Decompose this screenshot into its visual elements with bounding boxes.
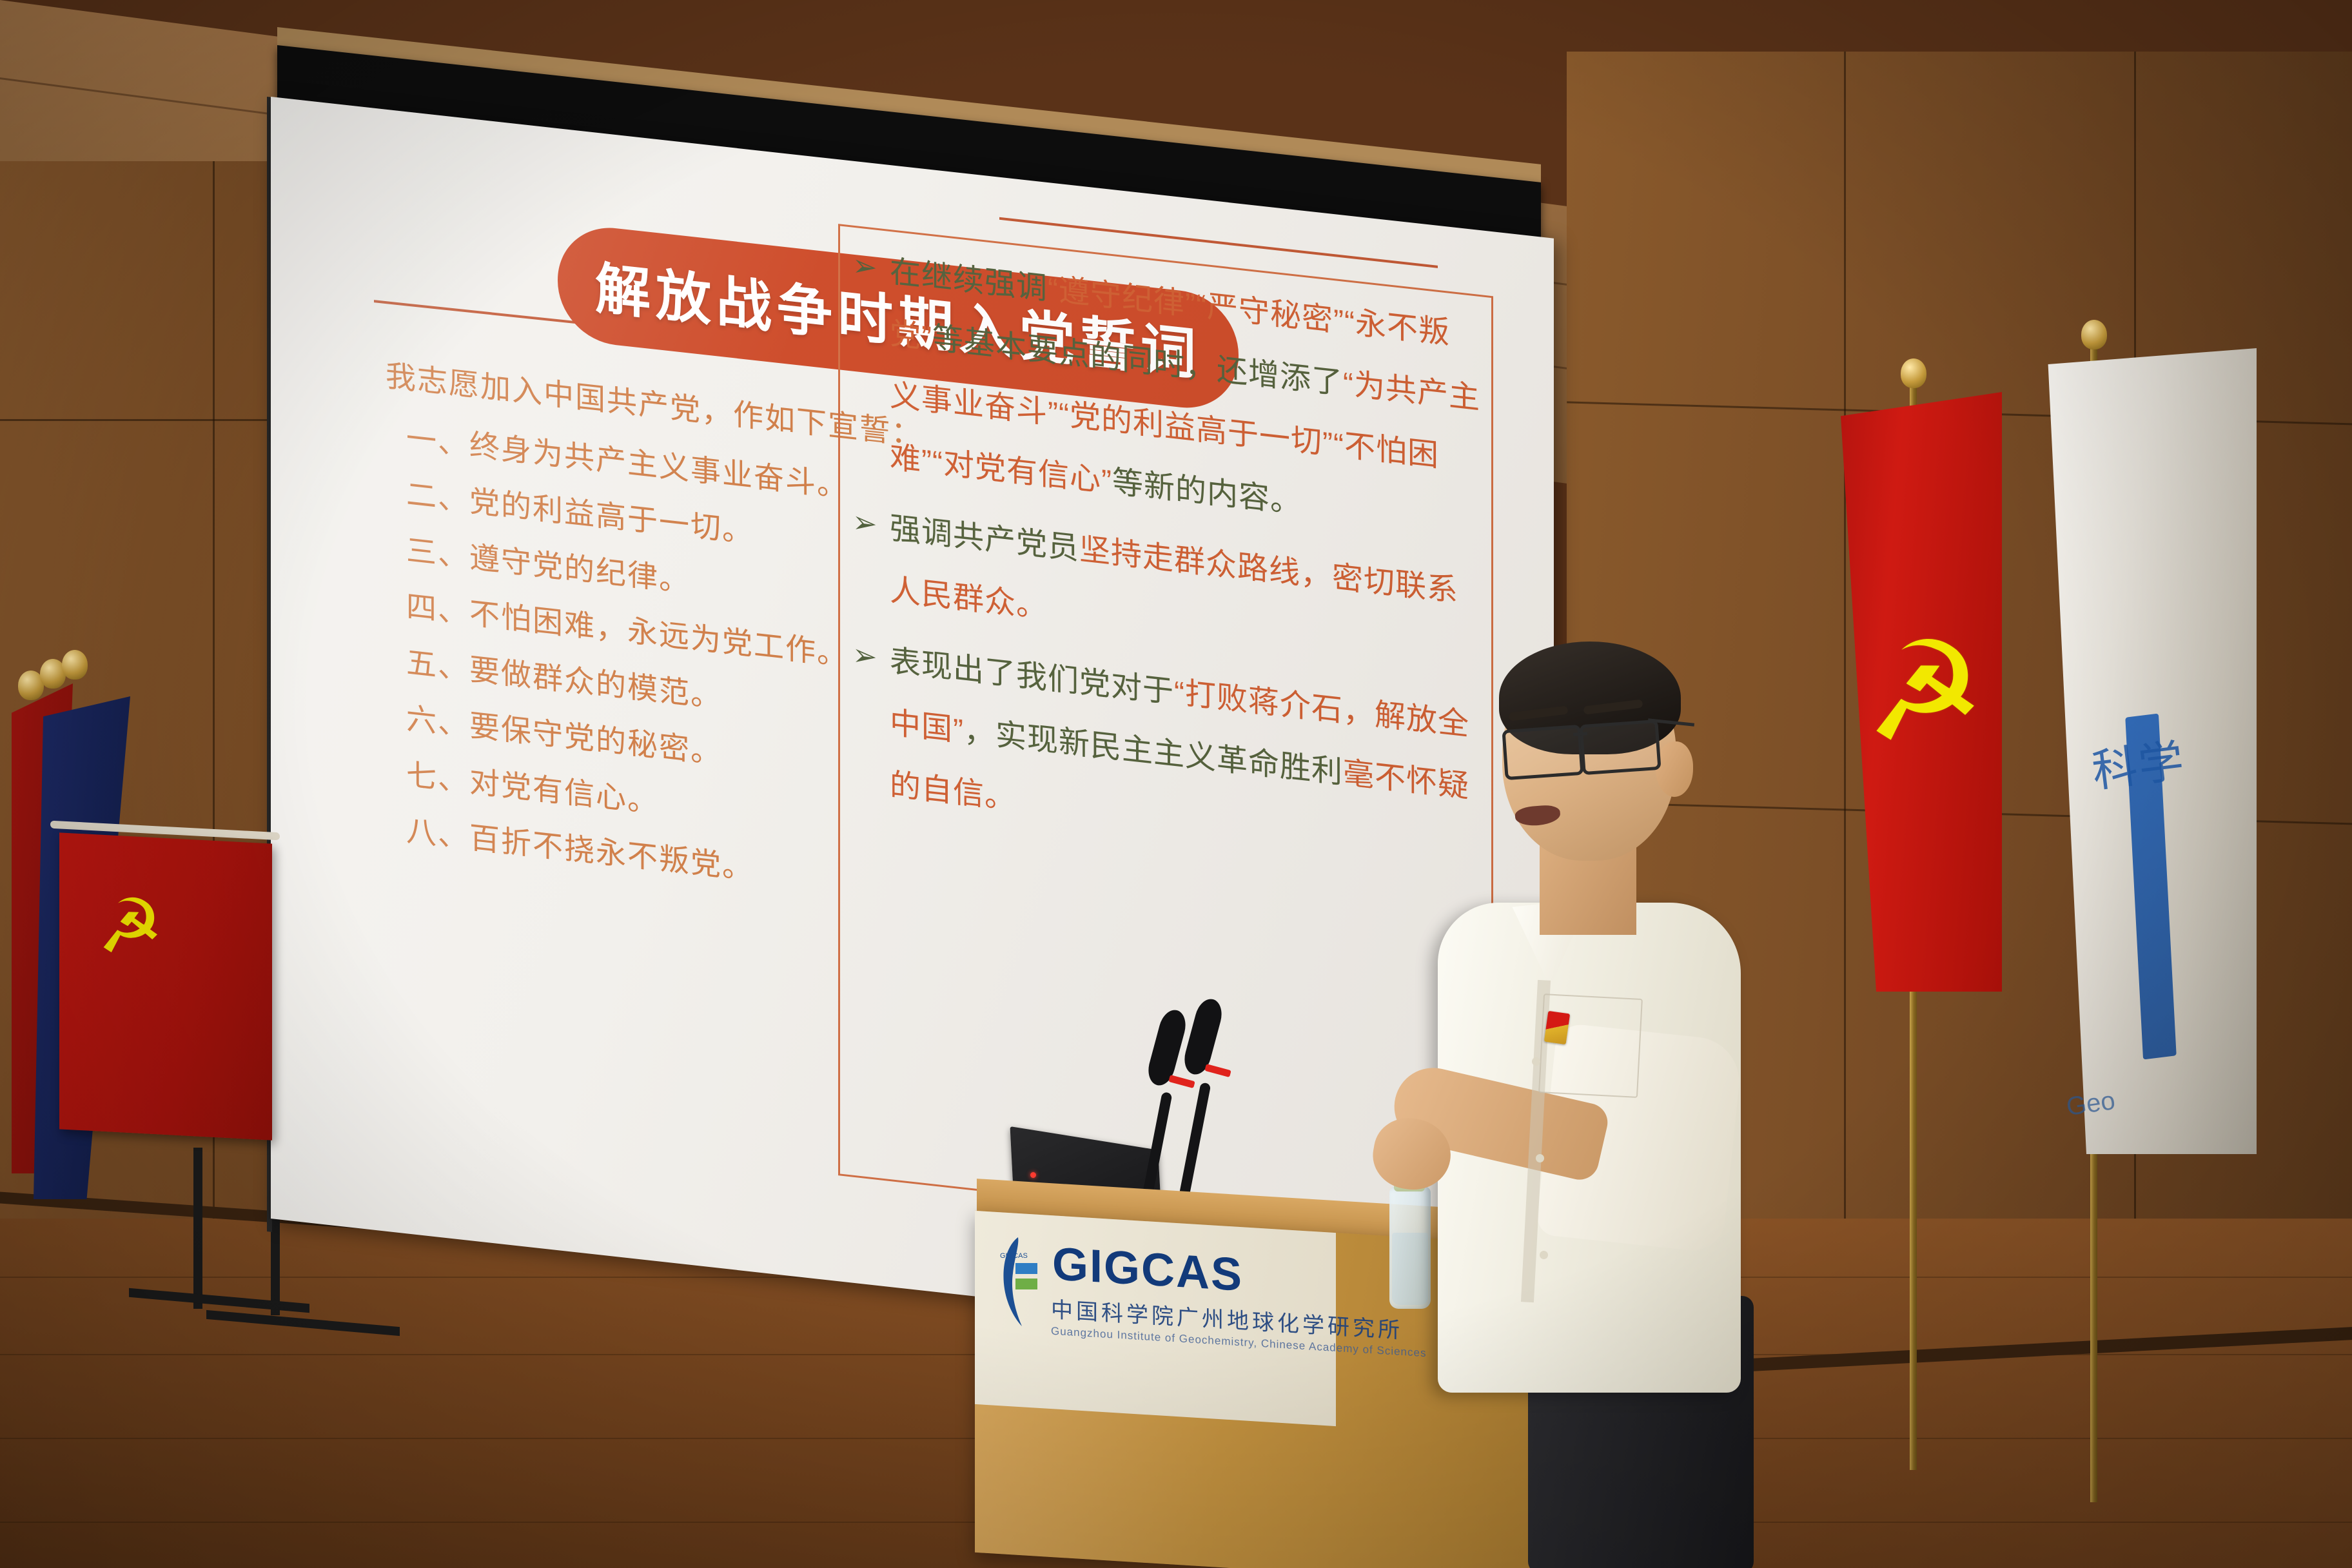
commentary-segment: “严守秘密” <box>1196 288 1344 338</box>
shirt-button-icon <box>1536 1154 1544 1162</box>
flagpole-finial-icon <box>1901 358 1926 388</box>
commentary-segment: 等新的内容。 <box>1112 465 1302 520</box>
commentary-segment: “遵守纪律” <box>1048 272 1196 322</box>
laptop-power-led-icon <box>1030 1172 1036 1178</box>
commentary-segment: 强调共产党员 <box>890 511 1079 566</box>
projection-screen: 解放战争时期入党誓词 我志愿加入中国共产党，作如下宣誓： 一、终身为共产主义事业… <box>271 97 1554 1360</box>
speaker-shirt-pocket <box>1538 994 1643 1098</box>
speaker-ear <box>1656 741 1693 797</box>
gigcas-logo-icon: GIGCAS <box>996 1235 1041 1328</box>
flagpole-finial-icon <box>62 650 88 680</box>
water-bottle-contents <box>1392 1233 1428 1305</box>
commentary-segment: 等基本要点的同时，还增添了 <box>932 321 1343 400</box>
commentary-segment: “党的利益高于一切” <box>1059 397 1333 462</box>
bullet-arrow-icon: ➢ <box>852 237 890 489</box>
commentary-segment: ，实现新民主主义革命胜利 <box>964 714 1343 790</box>
podium-brand-label: GIGCAS <box>1052 1237 1243 1302</box>
commentary-segment: 表现出了我们党对于 <box>890 644 1174 710</box>
commentary-list: ➢在继续强调“遵守纪律”“严守秘密”“永不叛党”等基本要点的同时，还增添了“为共… <box>852 237 1484 891</box>
party-emblem-pin-icon <box>1544 1011 1570 1044</box>
commentary-segment: 在继续强调 <box>890 255 1048 306</box>
commentary-segment: “对党有信心” <box>932 445 1112 499</box>
flagpole-finial-icon <box>2081 320 2107 349</box>
auditorium-scene: 解放战争时期入党誓词 我志愿加入中国共产党，作如下宣誓： 一、终身为共产主义事业… <box>0 0 2352 1568</box>
eyeglasses-lens-right-icon <box>1579 720 1661 775</box>
bullet-arrow-icon: ➢ <box>852 627 890 816</box>
svg-text:GIGCAS: GIGCAS <box>1000 1252 1028 1260</box>
hammer-sickle-icon: ☭ <box>95 888 164 965</box>
screen-stand-post-left <box>193 1148 202 1309</box>
shirt-button-icon <box>1540 1251 1548 1259</box>
hammer-sickle-icon: ☭ <box>1859 622 1979 766</box>
shirt-button-icon <box>1532 1057 1540 1066</box>
oath-column: 我志愿加入中国共产党，作如下宣誓： 一、终身为共产主义事业奋斗。 二、党的利益高… <box>367 346 812 904</box>
cpc-banner-left <box>59 832 272 1140</box>
slide-content: 解放战争时期入党誓词 我志愿加入中国共产党，作如下宣誓： 一、终身为共产主义事业… <box>271 97 1554 1360</box>
bullet-arrow-icon: ➢ <box>852 494 890 622</box>
eyeglasses-lens-left-icon <box>1502 725 1583 780</box>
